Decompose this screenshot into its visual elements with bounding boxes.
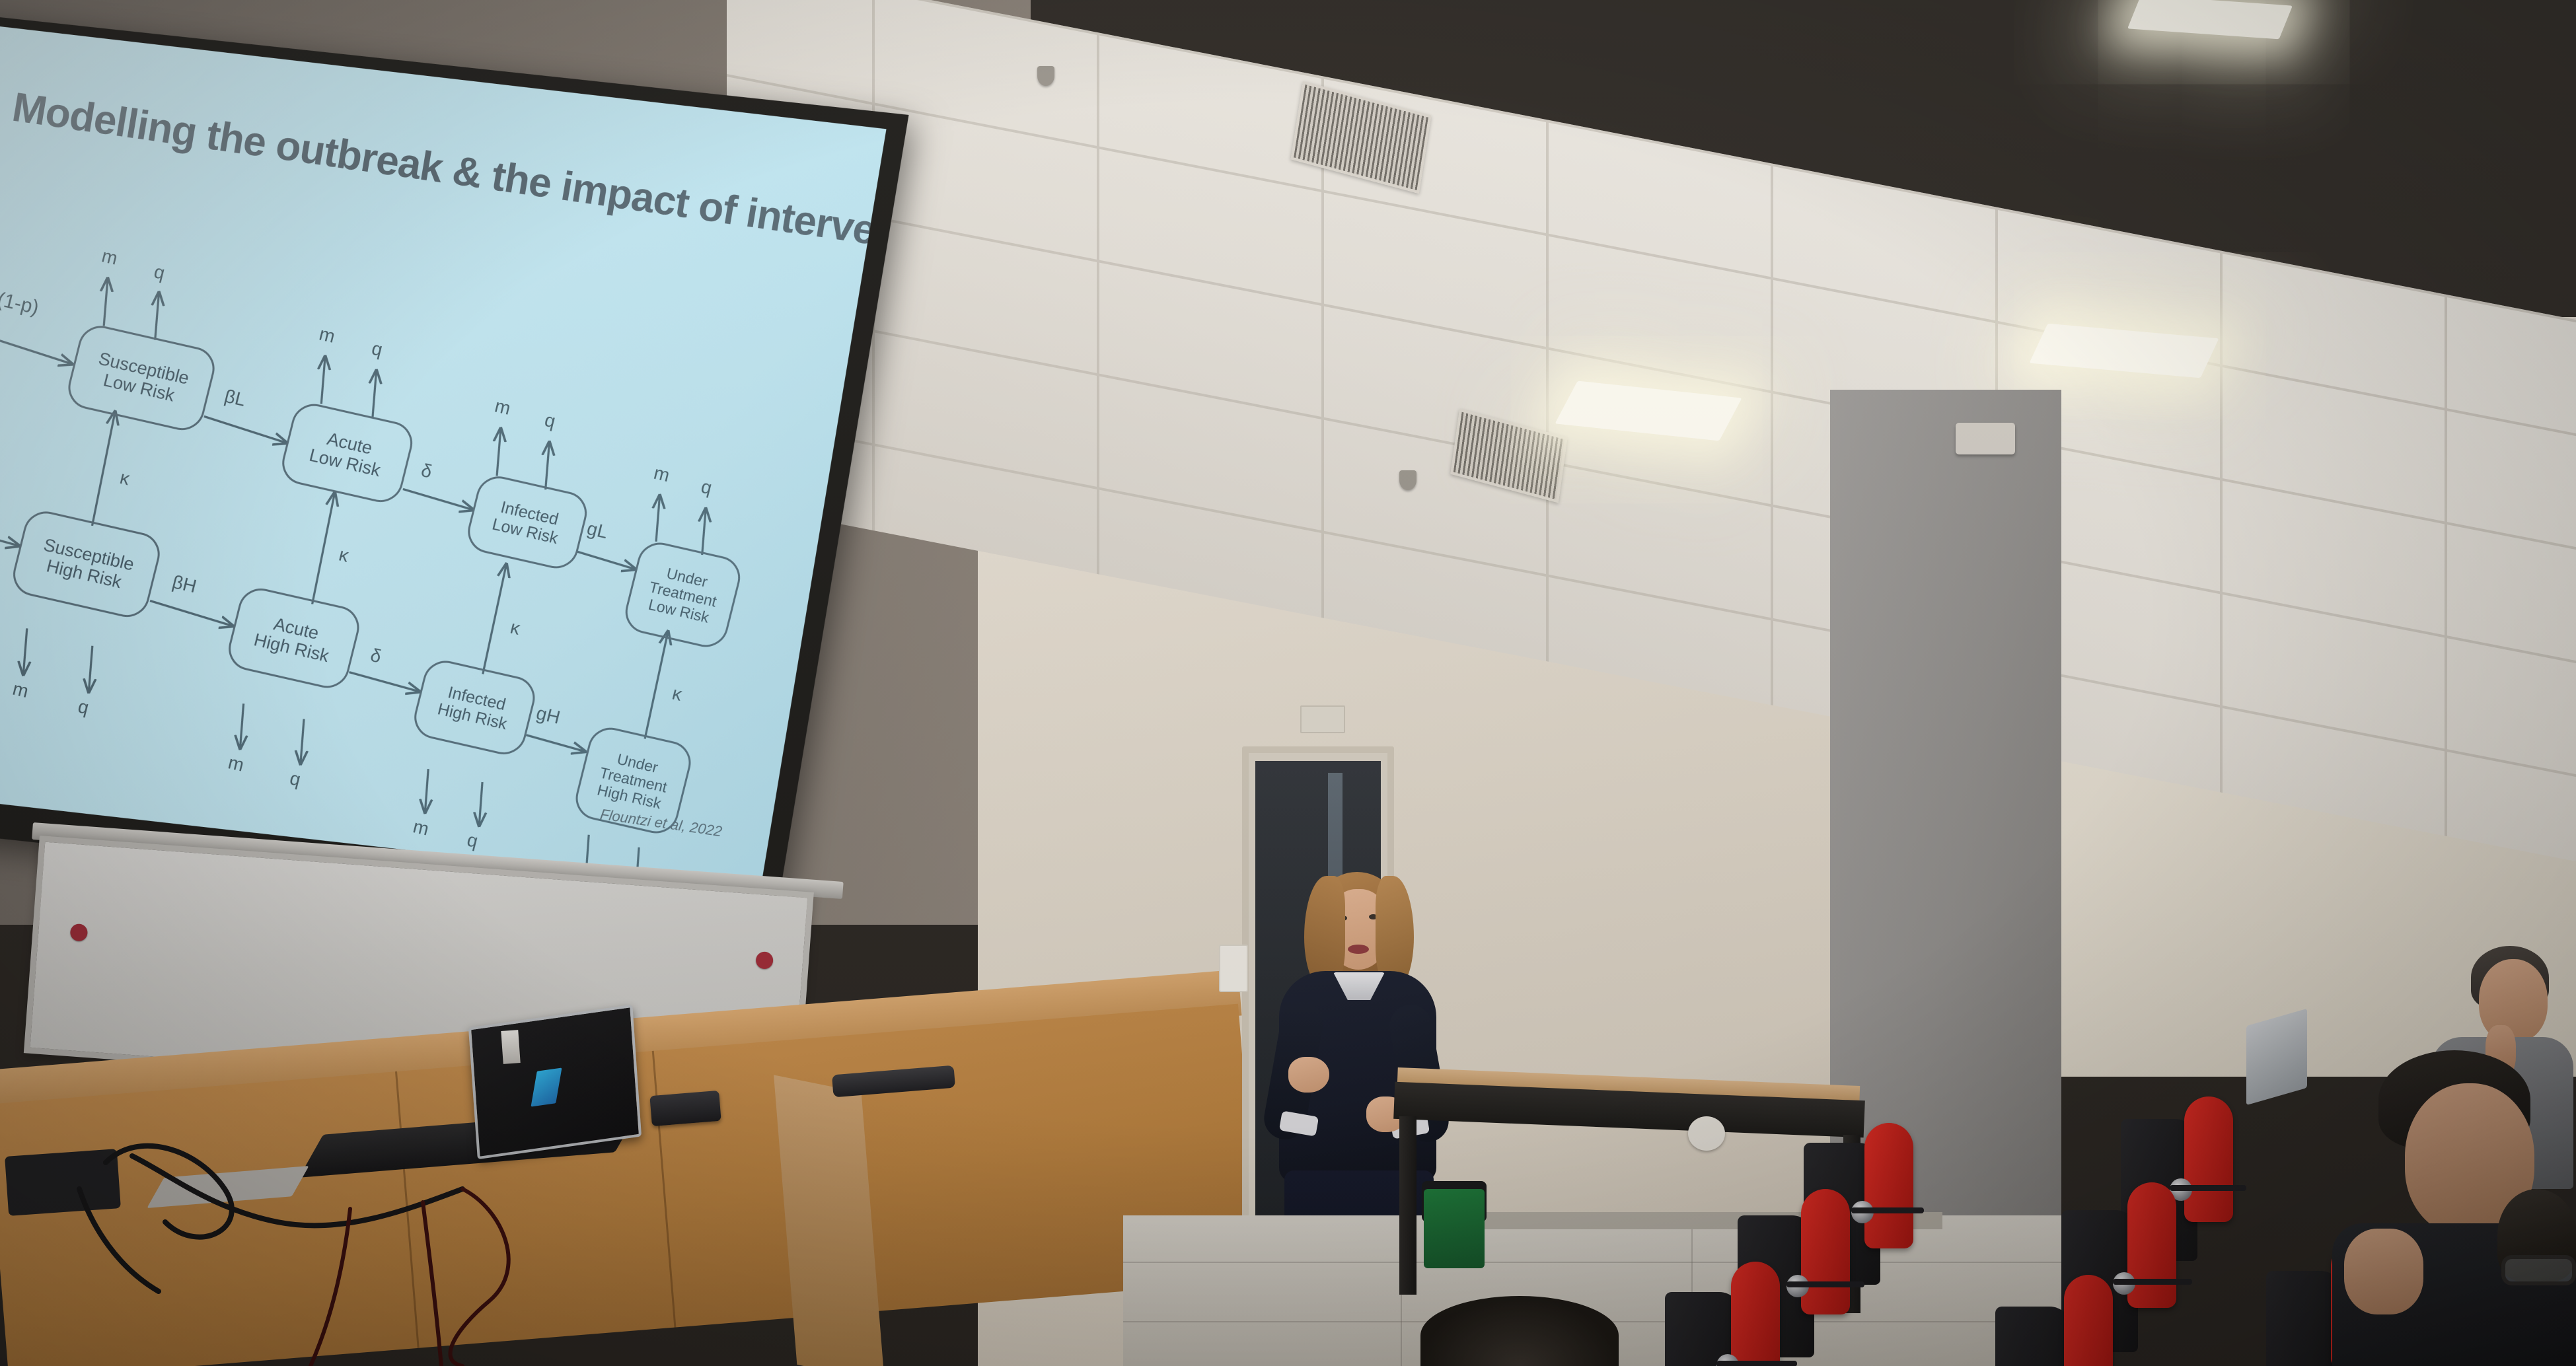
wall-plate — [1300, 705, 1345, 733]
outflow-label-q: q — [287, 768, 303, 791]
sprinkler-icon — [1399, 470, 1417, 490]
node-label: SusceptibleHigh Risk — [37, 534, 137, 594]
projection-screen: Modelling the outbreak & the impact of i… — [0, 0, 909, 956]
outflow-label-q: q — [465, 829, 480, 852]
node-label: InfectedHigh Risk — [435, 682, 513, 733]
edge-label-g-low: gL — [585, 518, 610, 543]
edge-label-beta-low: βL — [223, 386, 248, 411]
node-infected-low-risk: InfectedLow Risk — [463, 472, 591, 573]
presenter-mouth — [1348, 945, 1369, 954]
sprinkler-icon — [1037, 66, 1054, 86]
ceiling-light — [2127, 0, 2293, 39]
outflow-label-q: q — [76, 696, 91, 719]
presentation-slide: Modelling the outbreak & the impact of i… — [0, 0, 887, 917]
outflow-label-m: m — [411, 816, 431, 840]
inflow-label-low-risk: h(1-p) — [0, 286, 41, 320]
node-acute-high-risk: AcuteHigh Risk — [224, 584, 364, 692]
diagram-arrows — [0, 0, 887, 917]
power-outlet-icon[interactable] — [1688, 1116, 1725, 1151]
eyeglasses-icon — [2501, 1255, 2576, 1285]
node-label: SusceptibleLow Risk — [92, 348, 192, 408]
power-brick[interactable] — [5, 1149, 121, 1216]
light-switch[interactable] — [1219, 945, 1248, 992]
outflow-label-m: m — [493, 396, 513, 419]
node-susceptible-low-risk: SusceptibleLow Risk — [63, 322, 219, 435]
outflow-label-q: q — [699, 476, 714, 499]
edge-label-kappa: κ — [118, 467, 131, 489]
grey-column — [1830, 390, 2061, 1268]
outflow-label-m: m — [317, 324, 337, 347]
outflow-label-q: q — [542, 410, 558, 433]
edge-label-beta-high: βH — [170, 571, 198, 597]
node-infected-high-risk: InfectedHigh Risk — [410, 657, 540, 759]
wall-speaker-icon — [1956, 423, 2015, 454]
node-label: AcuteHigh Risk — [252, 610, 336, 666]
adapter-box[interactable] — [649, 1091, 721, 1126]
audience-hand — [2344, 1229, 2423, 1314]
outflow-label-m: m — [11, 678, 30, 702]
presenter-hand-with-clicker — [1288, 1057, 1329, 1093]
edge-label-delta-low: δ — [419, 460, 434, 483]
node-label: UnderTreatmentLow Risk — [643, 562, 722, 627]
edge-label-kappa: κ — [670, 683, 684, 705]
waste-bin — [1424, 1189, 1485, 1268]
edge-label-g-high: gH — [534, 703, 562, 729]
audience-laptop[interactable] — [2246, 1009, 2307, 1105]
node-label: InfectedLow Risk — [490, 497, 564, 548]
outflow-label-q: q — [152, 261, 167, 284]
outflow-label-m: m — [651, 462, 671, 486]
laptop-sticker — [501, 1030, 520, 1064]
edge-label-kappa: κ — [508, 617, 522, 639]
node-label: UnderTreatmentHigh Risk — [594, 748, 673, 813]
edge-label-delta-high: δ — [368, 645, 383, 668]
node-acute-low-risk: AcuteLow Risk — [277, 400, 417, 507]
magnet-icon — [755, 951, 774, 970]
lecture-hall-scene: Modelling the outbreak & the impact of i… — [0, 0, 2576, 1366]
compartment-model-diagram: SusceptibleLow Risk SusceptibleHigh Risk… — [0, 0, 887, 917]
edge-label-kappa: κ — [337, 544, 351, 567]
shelf-leg — [1399, 1116, 1417, 1295]
node-label: AcuteLow Risk — [307, 425, 387, 480]
node-susceptible-high-risk: SusceptibleHigh Risk — [9, 507, 165, 622]
magnet-icon — [69, 923, 88, 942]
outflow-label-m: m — [100, 245, 120, 269]
node-under-treatment-low-risk: UnderTreatmentLow Risk — [621, 538, 745, 651]
outflow-label-m: m — [226, 752, 246, 775]
outflow-label-q: q — [369, 338, 385, 361]
